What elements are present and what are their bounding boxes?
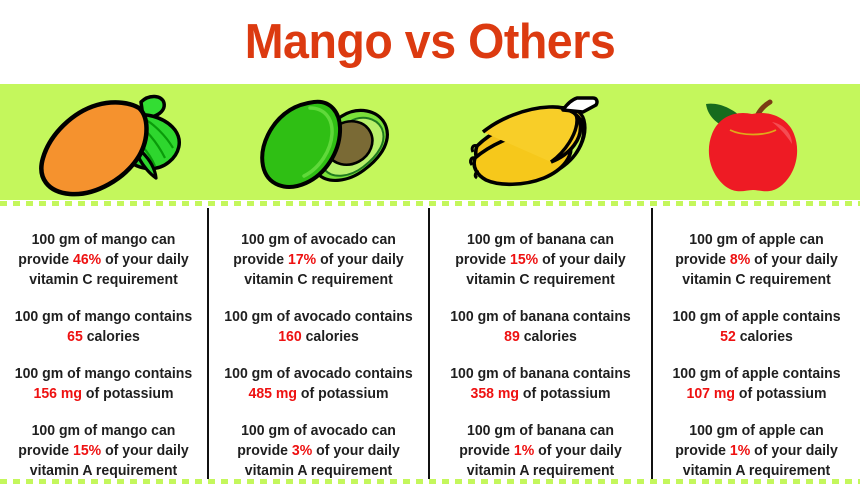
fact-item: 100 gm of apple can provide 1% of your d… (664, 421, 849, 481)
fact-text-post: calories (302, 329, 359, 345)
fact-item: 100 gm of mango contains 156 mg of potas… (11, 364, 196, 404)
fact-value: 17% (288, 252, 316, 268)
fact-value: 52 (720, 329, 736, 345)
fact-value: 1% (514, 443, 534, 459)
fact-text-post: calories (83, 329, 140, 345)
fact-item: 100 gm of apple contains 107 mg of potas… (664, 364, 849, 404)
fact-text-post: of potassium (735, 386, 826, 402)
fact-text-pre: 100 gm of mango contains (15, 366, 192, 382)
fact-value: 15% (510, 252, 538, 268)
fact-text-pre: 100 gm of banana contains (450, 309, 631, 325)
banana-illustration (453, 86, 623, 198)
dashed-divider-top (0, 201, 860, 206)
facts-grid: 100 gm of mango can provide 46% of your … (0, 208, 860, 479)
fact-value: 1% (730, 443, 750, 459)
fact-text-pre: 100 gm of mango contains (15, 309, 192, 325)
fact-value: 46% (73, 252, 101, 268)
fact-text-post: of potassium (519, 386, 610, 402)
fact-item: 100 gm of banana contains 358 mg of pota… (441, 364, 640, 404)
fact-item: 100 gm of avocado can provide 3% of your… (220, 421, 417, 481)
title-bar: Mango vs Others (0, 0, 860, 84)
fact-text-pre: 100 gm of apple contains (672, 366, 840, 382)
fact-item: 100 gm of banana contains 89 calories (441, 307, 640, 347)
fact-value: 89 (504, 329, 520, 345)
fact-value: 15% (73, 443, 101, 459)
fact-item: 100 gm of banana can provide 1% of your … (441, 421, 640, 481)
fact-value: 160 (278, 329, 301, 345)
fact-text-post: calories (736, 329, 793, 345)
fact-item: 100 gm of banana can provide 15% of your… (441, 230, 640, 290)
apple-illustration (668, 86, 838, 198)
fruit-cell-mango (0, 84, 215, 200)
fact-text-pre: 100 gm of banana contains (450, 366, 631, 382)
fact-column-apple: 100 gm of apple can provide 8% of your d… (651, 208, 860, 479)
fact-item: 100 gm of apple can provide 8% of your d… (664, 230, 849, 290)
fact-column-banana: 100 gm of banana can provide 15% of your… (428, 208, 651, 479)
fact-text-post: of potassium (82, 386, 173, 402)
fruit-cell-avocado (215, 84, 430, 200)
fact-text-post: calories (520, 329, 577, 345)
fact-value: 358 mg (471, 386, 519, 402)
fruit-illustration-band (0, 84, 860, 200)
fact-item: 100 gm of mango can provide 15% of your … (11, 421, 196, 481)
fact-value: 8% (730, 252, 750, 268)
fact-item: 100 gm of apple contains 52 calories (664, 307, 849, 347)
fact-value: 485 mg (249, 386, 297, 402)
fact-text-post: of potassium (297, 386, 388, 402)
fact-text-pre: 100 gm of avocado contains (224, 366, 412, 382)
infographic-root: Mango vs Others (0, 0, 860, 484)
fact-column-avocado: 100 gm of avocado can provide 17% of you… (207, 208, 428, 479)
mango-illustration (23, 86, 193, 198)
fact-item: 100 gm of mango contains 65 calories (11, 307, 196, 347)
page-title: Mango vs Others (245, 18, 616, 67)
fruit-cell-banana (430, 84, 645, 200)
fact-text-pre: 100 gm of avocado contains (224, 309, 412, 325)
fact-item: 100 gm of avocado can provide 17% of you… (220, 230, 417, 290)
fact-item: 100 gm of mango can provide 46% of your … (11, 230, 196, 290)
fruit-cell-apple (645, 84, 860, 200)
avocado-illustration (238, 86, 408, 198)
fact-value: 156 mg (34, 386, 82, 402)
fact-value: 3% (292, 443, 312, 459)
fact-text-pre: 100 gm of apple contains (672, 309, 840, 325)
fact-column-mango: 100 gm of mango can provide 46% of your … (0, 208, 207, 479)
fact-item: 100 gm of avocado contains 160 calories (220, 307, 417, 347)
fact-item: 100 gm of avocado contains 485 mg of pot… (220, 364, 417, 404)
fact-value: 107 mg (687, 386, 735, 402)
fact-value: 65 (67, 329, 83, 345)
